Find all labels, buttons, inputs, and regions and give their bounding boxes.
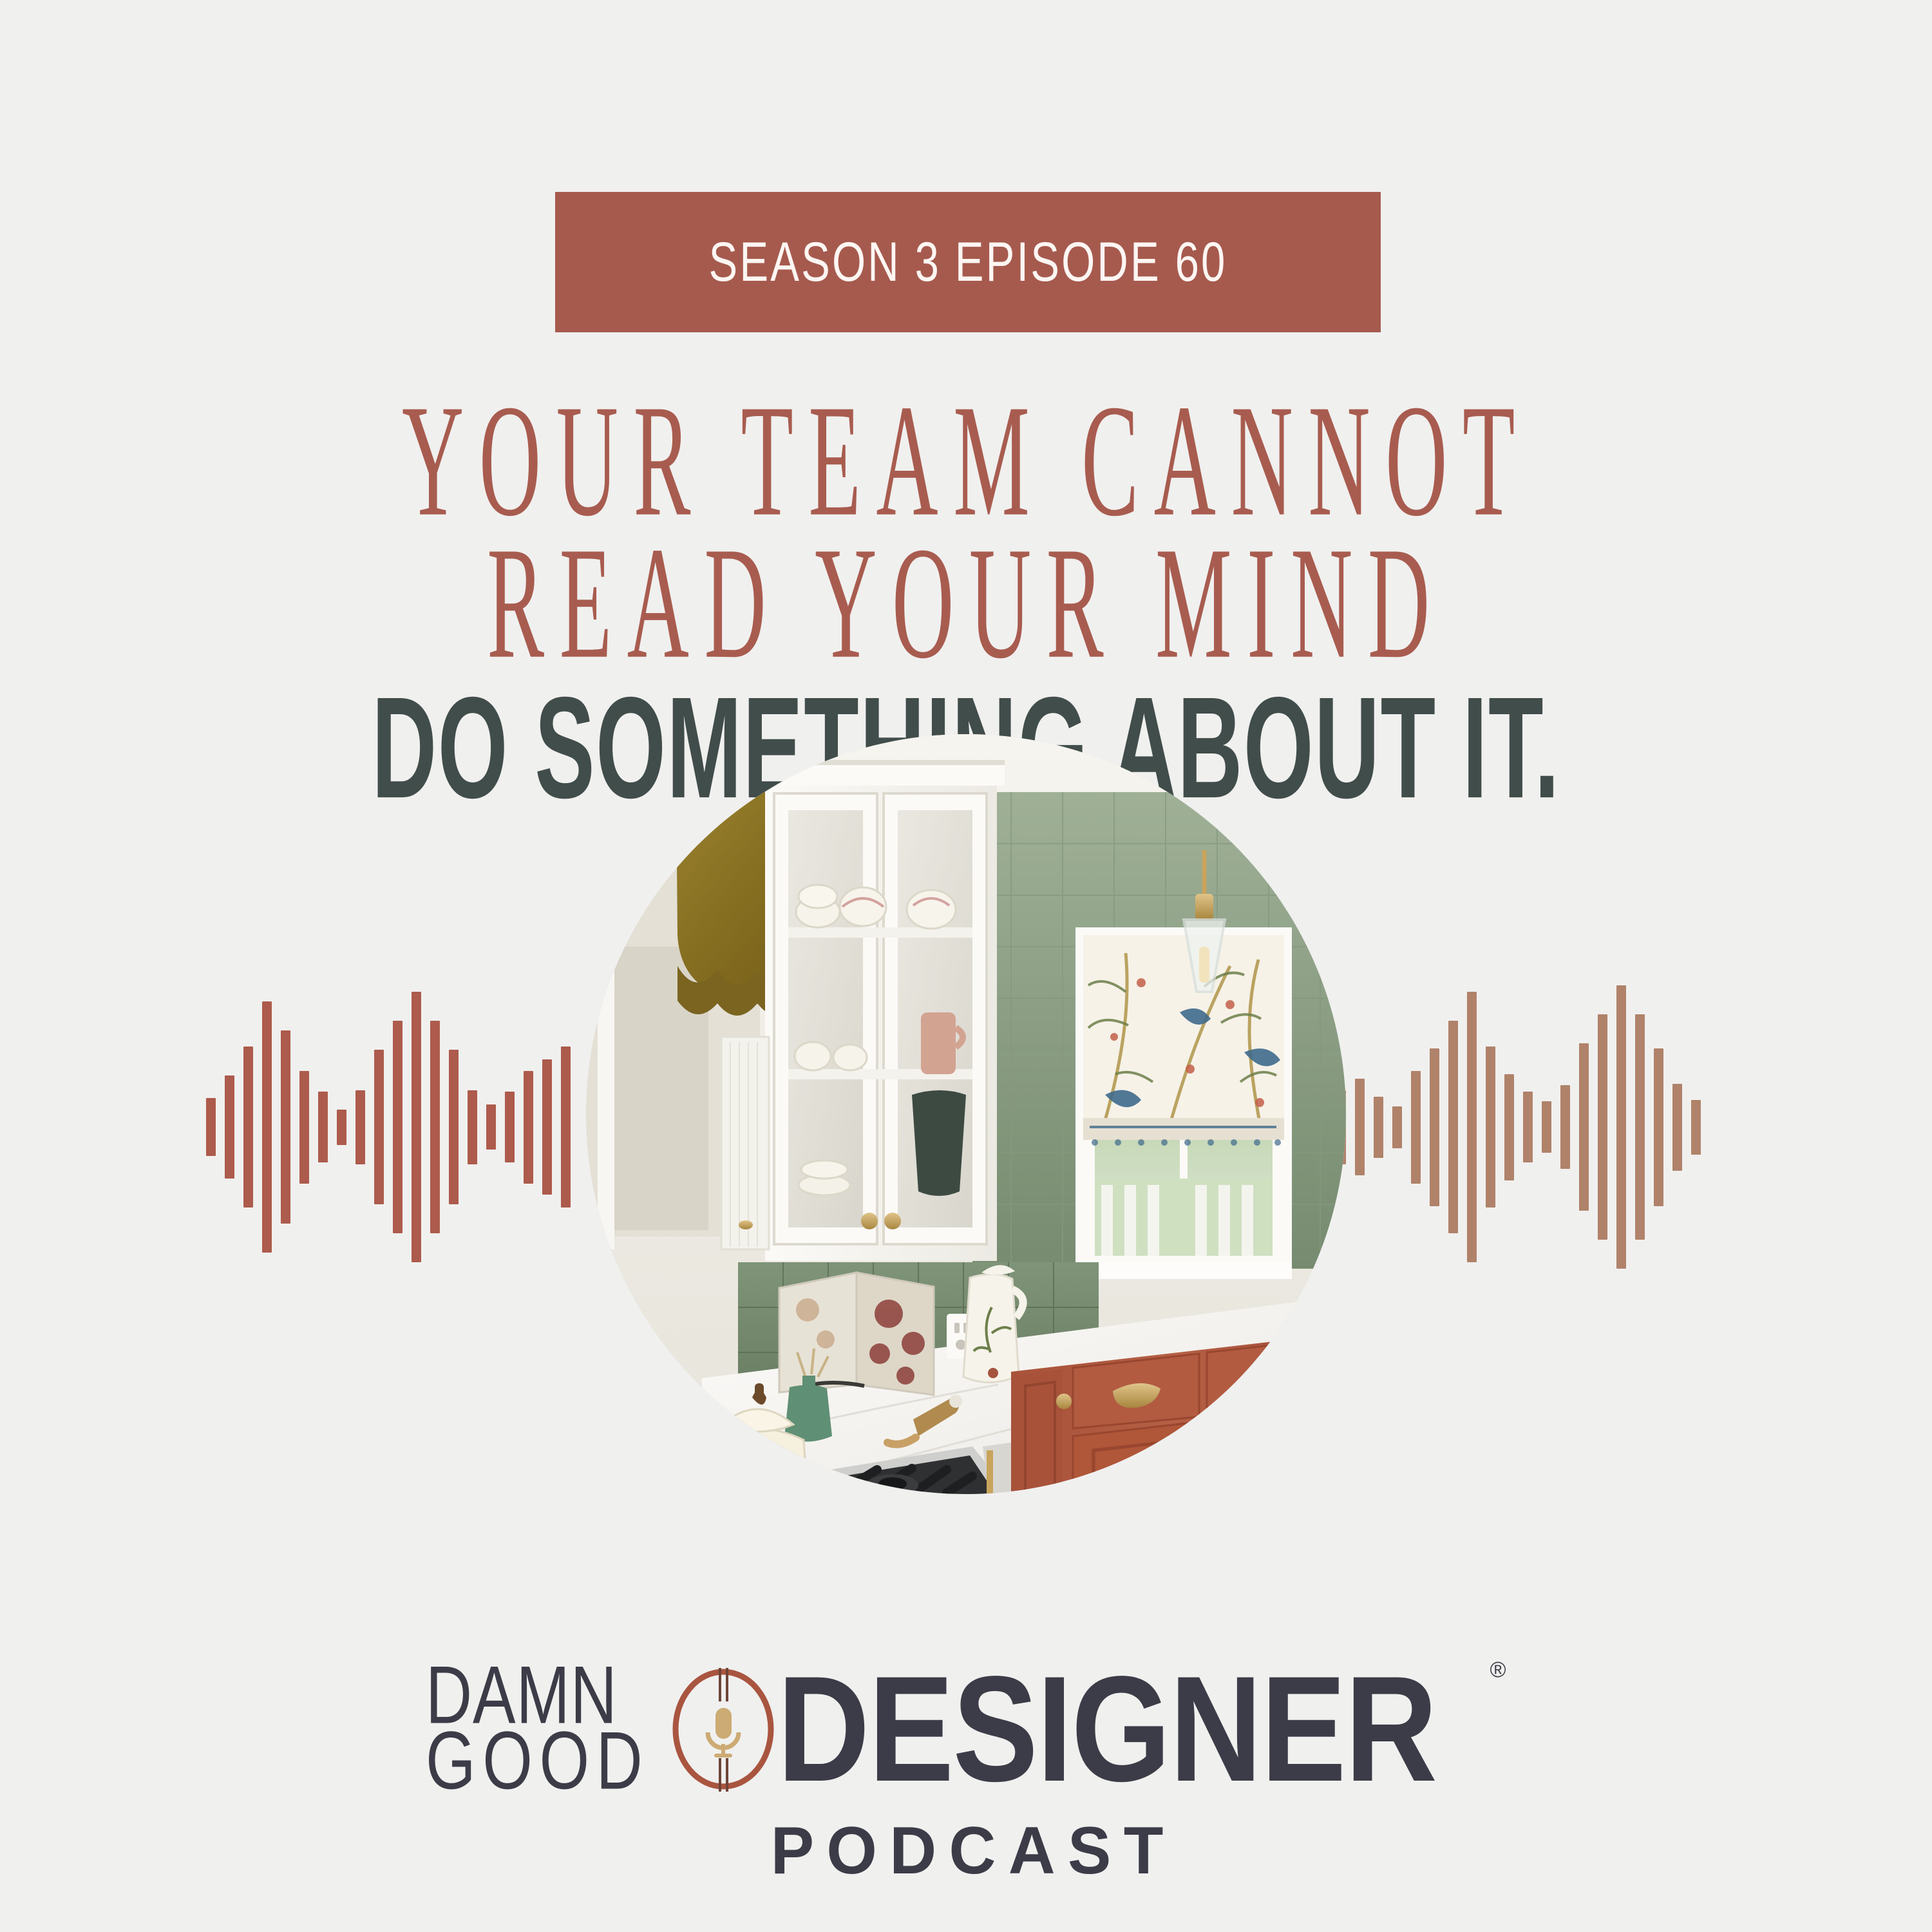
waveform-left (206, 985, 580, 1269)
waveform-left-bar (299, 1071, 309, 1184)
episode-banner-label: SEASON 3 EPISODE 60 (709, 231, 1227, 294)
waveform-right-bar (1654, 1048, 1663, 1206)
microphone-emblem-icon (665, 1662, 781, 1797)
waveform-left-bar (243, 1046, 253, 1207)
designer-wordmark: DESIGNER ® (777, 1649, 1506, 1809)
waveform-left-bar (542, 1059, 552, 1195)
waveform-left-bar (468, 1090, 477, 1164)
waveform-left-bar (355, 1090, 365, 1164)
waveform-right-bar (1355, 1079, 1365, 1175)
waveform-right-bar (1560, 1085, 1570, 1169)
waveform-right-bar (1374, 1097, 1383, 1158)
waveform-right-bar (1542, 1101, 1551, 1153)
podcast-episode-poster: SEASON 3 EPISODE 60 YOUR TEAM CANNOT REA… (0, 0, 1932, 1932)
waveform-right-bar (1486, 1046, 1495, 1207)
logo-good-text: GOOD (426, 1721, 649, 1801)
waveform-right-bar (1411, 1071, 1421, 1184)
waveform-right-bar (1635, 1014, 1645, 1240)
waveform-left-bar (505, 1092, 515, 1162)
waveform-left-bar (281, 1030, 290, 1224)
waveform-right-bar (1691, 1100, 1701, 1155)
logo-designer-text: DESIGNER (777, 1642, 1436, 1815)
waveform-right-bar (1616, 985, 1626, 1269)
waveform-left-bar (524, 1071, 533, 1184)
waveform-right-bar (1504, 1074, 1514, 1180)
headline-line-2: READ YOUR MIND (367, 522, 1565, 683)
waveform-left-bar (206, 1098, 216, 1156)
waveform-left-bar (318, 1092, 328, 1162)
waveform-left-bar (262, 1001, 272, 1253)
waveform-left-bar (225, 1075, 234, 1179)
waveform-left-bar (486, 1104, 496, 1150)
waveform-left-bar (561, 1046, 571, 1207)
podcast-logo: DAMN GOOD (0, 1649, 1932, 1889)
waveform-right-bar (1392, 1106, 1402, 1148)
waveform-right-bar (1672, 1084, 1682, 1171)
waveform-right-bar (1467, 992, 1477, 1262)
waveform-left-bar (337, 1110, 346, 1145)
waveform-right-bar (1430, 1048, 1439, 1206)
waveform-left-bar (393, 1021, 402, 1233)
episode-banner: SEASON 3 EPISODE 60 (555, 192, 1381, 332)
waveform-right (1336, 985, 1710, 1269)
kitchen-interior-photo (586, 734, 1346, 1494)
waveform-right-bar (1523, 1092, 1533, 1162)
waveform-right-bar (1598, 1014, 1607, 1240)
registered-trademark-icon: ® (1490, 1658, 1506, 1683)
waveform-right-bar (1448, 1021, 1458, 1233)
logo-primary-row: DAMN GOOD (426, 1649, 1506, 1809)
waveform-left-bar (449, 1050, 459, 1204)
waveform-left-bar (374, 1050, 384, 1204)
waveform-right-bar (1579, 1043, 1589, 1211)
waveform-left-bar (430, 1021, 440, 1233)
damn-good-wordmark: DAMN GOOD (426, 1663, 659, 1795)
waveform-left-bar (412, 992, 421, 1262)
logo-podcast-text: PODCAST (770, 1813, 1175, 1889)
